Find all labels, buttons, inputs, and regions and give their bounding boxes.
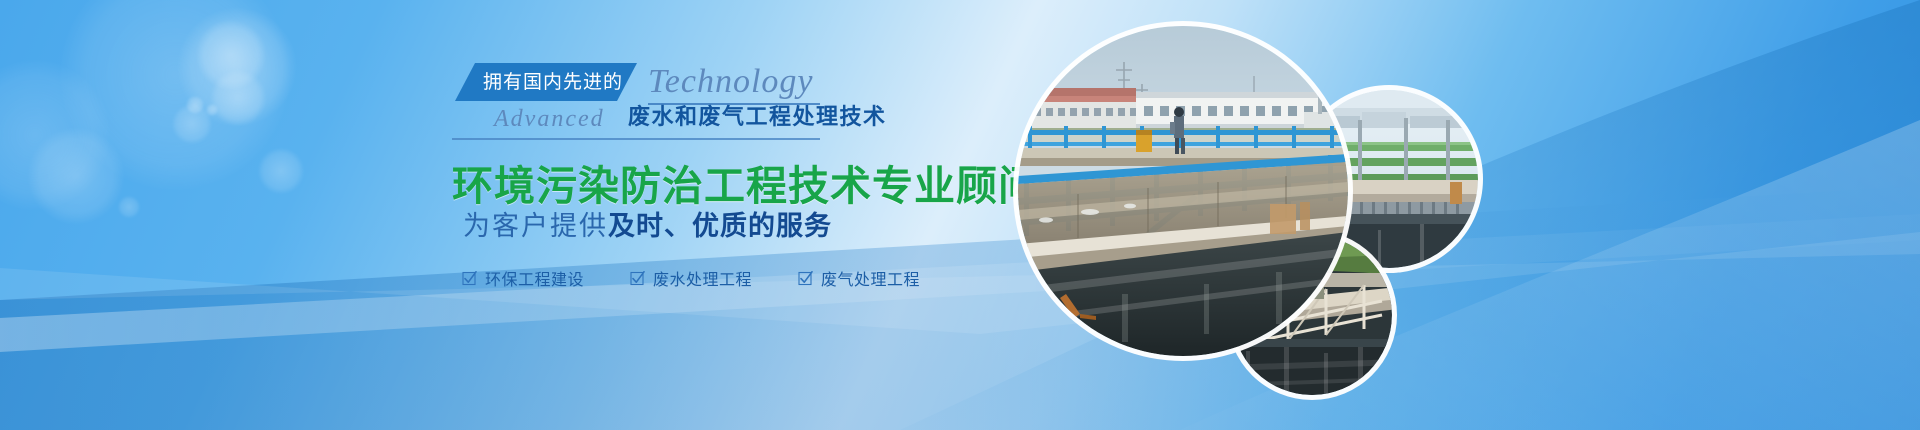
sub-tagline: 为客户提供及时、优质的服务 <box>463 207 832 245</box>
script-technology: Technology <box>648 62 814 102</box>
banner-copy: 拥有国内先进的 Technology Advanced 废水和废气工程处理技术 … <box>0 0 900 430</box>
chip-parallelogram: 拥有国内先进的 <box>455 63 637 101</box>
photo-sedimentation-tank <box>1018 26 1348 356</box>
check-box-icon <box>630 271 645 286</box>
list-item-label: 环保工程建设 <box>485 266 584 290</box>
list-item-label: 废水处理工程 <box>653 266 752 290</box>
chip-label: 拥有国内先进的 <box>483 73 623 92</box>
list-item: 废气处理工程 <box>798 266 920 290</box>
divider-rule-bottom <box>452 138 820 140</box>
script-advanced: Advanced <box>494 104 605 134</box>
page-title: 环境污染防治工程技术专业顾问 <box>452 160 1040 212</box>
subtitle-cn: 废水和废气工程处理技术 <box>628 101 887 133</box>
tagline-soft: 为客户提供 <box>463 211 608 241</box>
list-item: 废水处理工程 <box>630 266 752 290</box>
check-box-icon <box>798 271 813 286</box>
tagline-chip: 拥有国内先进的 <box>455 63 637 101</box>
tagline-hard: 及时、优质的服务 <box>608 211 832 241</box>
check-box-icon <box>462 271 477 286</box>
list-item-label: 废气处理工程 <box>821 266 920 290</box>
hero-banner: 拥有国内先进的 Technology Advanced 废水和废气工程处理技术 … <box>0 0 1920 430</box>
list-item: 环保工程建设 <box>462 266 584 290</box>
feature-check-list: 环保工程建设 废水处理工程 废气处理工程 <box>462 266 920 290</box>
